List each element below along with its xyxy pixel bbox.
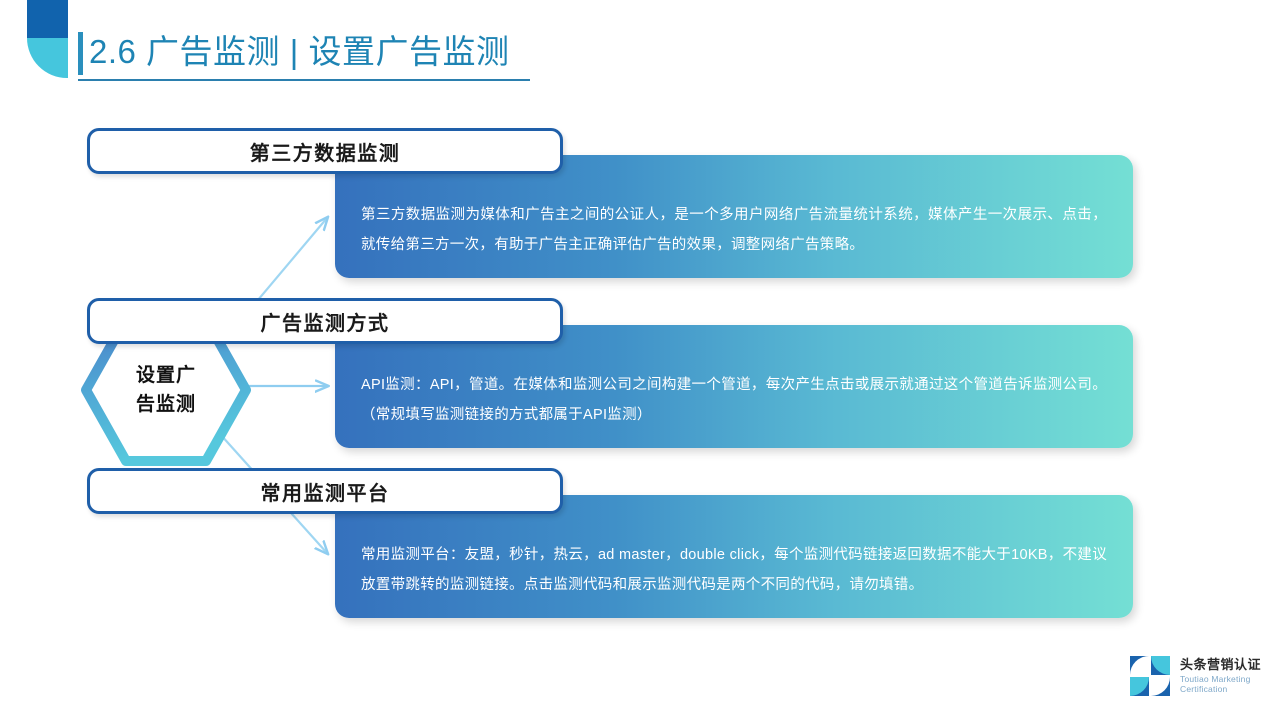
logo-text-cn: 头条营销认证 (1180, 657, 1261, 673)
card-body-text: 常用监测平台：友盟，秒针，热云，ad master，double click，每… (361, 541, 1107, 600)
card-header-title[interactable]: 广告监测方式 (87, 298, 563, 344)
decoration-square-icon (27, 0, 68, 38)
card-header-title[interactable]: 第三方数据监测 (87, 128, 563, 174)
logo-text-en-line2: Certification (1180, 684, 1261, 695)
header-decoration (27, 0, 68, 78)
brand-logo: 头条营销认证 Toutiao Marketing Certification (1128, 651, 1268, 701)
page-title-block: 2.6 广告监测 | 设置广告监测 (78, 28, 698, 86)
logo-text-en-line1: Toutiao Marketing (1180, 674, 1261, 685)
page-title: 2.6 广告监测 | 设置广告监测 (89, 28, 509, 76)
card-header-title[interactable]: 常用监测平台 (87, 468, 563, 514)
card-body-text: 第三方数据监测为媒体和广告主之间的公证人，是一个多用户网络广告流量统计系统，媒体… (361, 201, 1107, 260)
title-underline (78, 79, 530, 81)
toutiao-logo-icon (1128, 654, 1172, 698)
card-body-text: API监测：API，管道。在媒体和监测公司之间构建一个管道，每次产生点击或展示就… (361, 371, 1107, 430)
title-accent-bar (78, 32, 83, 75)
logo-wordmark: 头条营销认证 Toutiao Marketing Certification (1180, 657, 1261, 695)
decoration-quarter-circle-icon (27, 38, 68, 78)
hub-label-line1: 设置广 (136, 361, 196, 390)
hub-label-line2: 告监测 (136, 390, 196, 419)
